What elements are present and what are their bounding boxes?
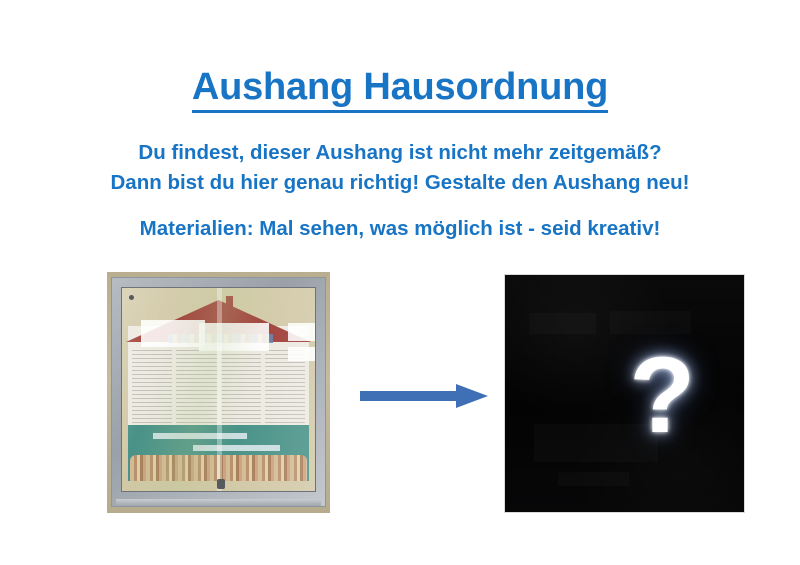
poster-band-label bbox=[153, 433, 247, 439]
page-title: Aushang Hausordnung bbox=[0, 66, 800, 109]
display-case-interior bbox=[121, 287, 316, 492]
subtitle-line-2: Dann bist du hier genau richtig! Gestalt… bbox=[0, 168, 800, 198]
paper-sheet bbox=[288, 323, 316, 341]
faint-background-shape bbox=[529, 313, 596, 334]
right-arrow-icon bbox=[358, 382, 490, 410]
page-title-text: Aushang Hausordnung bbox=[192, 66, 608, 113]
display-case-frame bbox=[111, 277, 326, 507]
paper-sheet bbox=[199, 323, 268, 351]
paper-sheet bbox=[288, 347, 316, 361]
faint-background-shape bbox=[558, 472, 630, 486]
case-screw bbox=[129, 295, 134, 300]
faint-background-shape bbox=[610, 311, 691, 335]
subtitle-block: Du findest, dieser Aushang ist nicht meh… bbox=[0, 138, 800, 198]
question-mark-photo: ? bbox=[504, 274, 745, 513]
question-mark-glyph: ? bbox=[629, 341, 695, 449]
case-latch bbox=[217, 479, 225, 489]
poster-band-label bbox=[193, 445, 280, 451]
poster-chimney-shape bbox=[226, 296, 233, 312]
paper-sheet bbox=[141, 320, 205, 346]
subtitle-line-1: Du findest, dieser Aushang ist nicht meh… bbox=[0, 138, 800, 168]
case-sill bbox=[116, 499, 321, 506]
glass-door-seam bbox=[217, 288, 222, 491]
notice-board-photo bbox=[107, 272, 330, 513]
materials-line: Materialien: Mal sehen, was möglich ist … bbox=[0, 214, 800, 244]
